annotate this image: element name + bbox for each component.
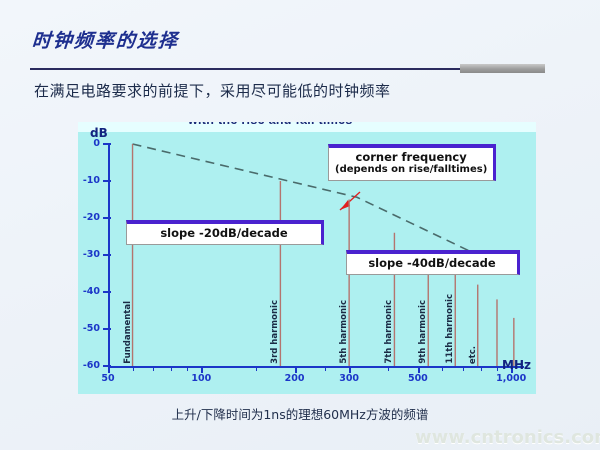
- y-tick: [103, 180, 111, 182]
- x-tick: [201, 366, 203, 373]
- slide-background: 时钟频率的选择 在满足电路要求的前提下，采用尽可能低的时钟频率 with the…: [0, 0, 600, 450]
- site-watermark: www.cntronics.com: [415, 427, 600, 448]
- y-tick: [103, 254, 111, 256]
- harmonic-label: 7th harmonic: [384, 300, 394, 364]
- x-tick-minor: [171, 366, 172, 371]
- figure-caption: 上升/下降时间为1ns的理想60MHz方波的频谱: [0, 404, 600, 423]
- y-tick-label: -30: [78, 249, 100, 260]
- x-tick-label: 500: [408, 373, 428, 384]
- x-tick-label: 200: [285, 373, 305, 384]
- harmonic-label: 3rd harmonic: [270, 300, 280, 364]
- y-tick: [103, 217, 111, 219]
- title-divider: [30, 68, 460, 70]
- y-tick-label: -20: [78, 212, 100, 223]
- corner-frequency-line2: (depends on rise/falltimes): [335, 164, 487, 176]
- x-tick-minor: [463, 366, 464, 371]
- x-axis-unit-label: MHz: [502, 358, 531, 372]
- x-tick-label: 1,000: [496, 373, 526, 384]
- x-tick-minor: [187, 366, 188, 371]
- y-tick-label: -50: [78, 323, 100, 334]
- x-tick: [295, 366, 297, 373]
- x-tick-minor: [481, 366, 482, 371]
- x-tick-minor: [153, 366, 154, 371]
- title-divider-accent-bar: [460, 64, 545, 73]
- y-tick-label: 0: [78, 138, 100, 149]
- x-tick-minor: [133, 366, 134, 371]
- annotation-corner-frequency: corner frequency (depends on rise/fallti…: [328, 144, 496, 181]
- harmonic-label: 5th harmonic: [339, 300, 349, 364]
- x-tick-minor: [497, 366, 498, 371]
- spectrum-chart: with the rise and fall times dB 0-10-20-…: [78, 122, 536, 394]
- x-tick-label: 100: [191, 373, 211, 384]
- y-tick-label: -60: [78, 360, 100, 371]
- x-tick-minor: [442, 366, 443, 371]
- subtitle-text: 在满足电路要求的前提下，采用尽可能低的时钟频率: [34, 80, 391, 101]
- page-title: 时钟频率的选择: [31, 26, 180, 53]
- y-tick-label: -10: [78, 175, 100, 186]
- annotation-slope-40db: slope -40dB/decade: [346, 250, 520, 275]
- x-tick: [108, 366, 110, 373]
- corner-frequency-line1: corner frequency: [335, 151, 487, 164]
- x-tick: [418, 366, 420, 373]
- x-tick-label: 50: [101, 373, 114, 384]
- annotation-slope-20db: slope -20dB/decade: [126, 220, 324, 245]
- x-tick-minor: [325, 366, 326, 371]
- y-tick: [103, 143, 111, 145]
- y-tick-label: -40: [78, 286, 100, 297]
- plot-area: dB 0-10-20-30-40-50-60 501002003005001,0…: [78, 122, 536, 394]
- x-tick: [349, 366, 351, 373]
- harmonic-label: 9th harmonic: [418, 300, 428, 364]
- harmonic-label: Fundamental: [123, 301, 133, 364]
- harmonic-label: 11th harmonic: [445, 294, 455, 364]
- y-tick: [103, 291, 111, 293]
- harmonic-label: etc.: [468, 346, 478, 364]
- x-tick-minor: [388, 366, 389, 371]
- y-tick: [103, 328, 111, 330]
- x-tick-label: 300: [339, 373, 359, 384]
- x-tick-minor: [256, 366, 257, 371]
- y-axis-line: [108, 144, 110, 368]
